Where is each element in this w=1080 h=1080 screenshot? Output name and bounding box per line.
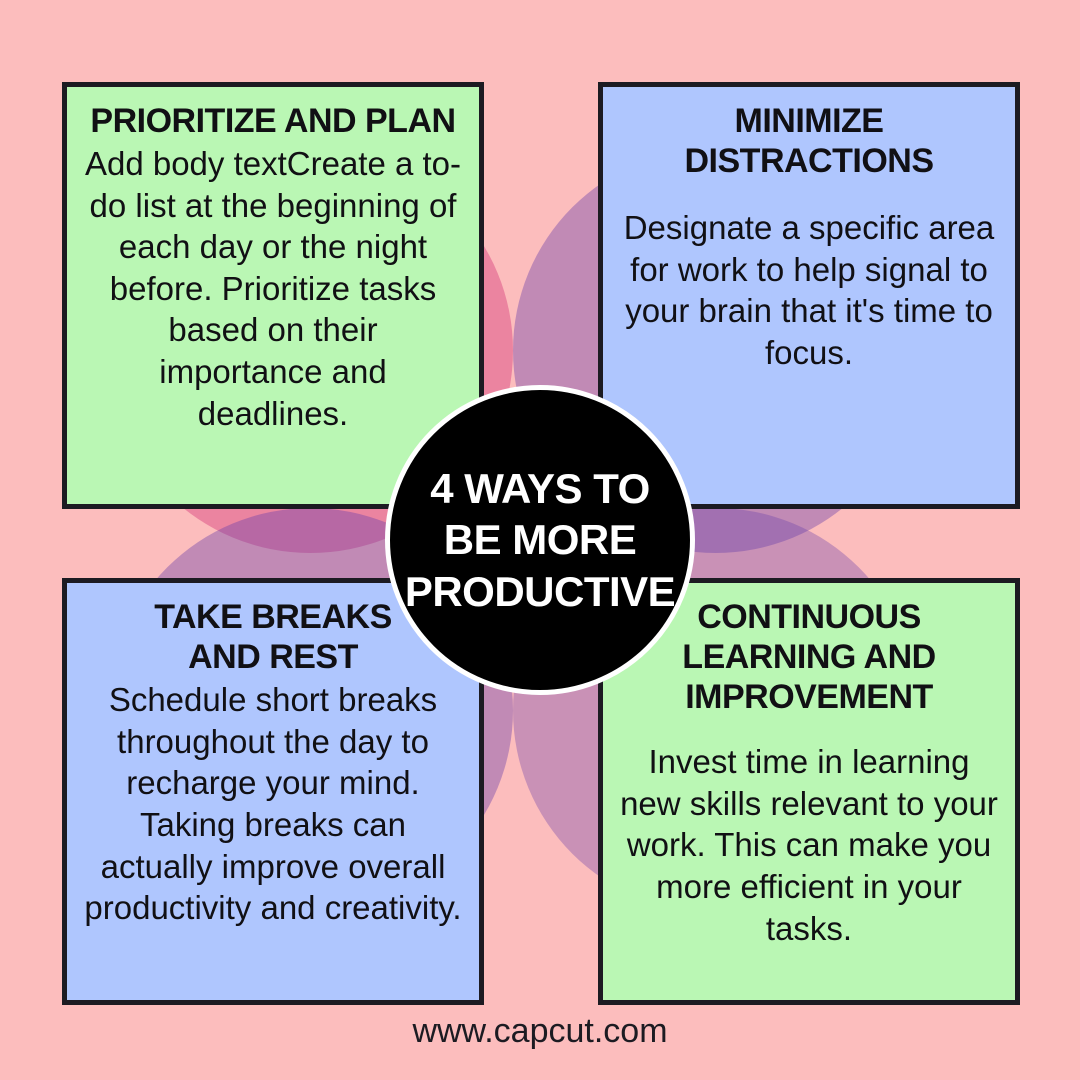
center-badge-title: 4 WAYS TO BE MORE PRODUCTIVE — [390, 463, 690, 617]
center-badge: 4 WAYS TO BE MORE PRODUCTIVE — [385, 385, 695, 695]
card-body: Add body textCreate a to-do list at the … — [83, 143, 463, 434]
footer-url: www.capcut.com — [0, 1012, 1080, 1051]
infographic-canvas: PRIORITIZE AND PLAN Add body textCreate … — [0, 0, 1080, 1080]
card-title: MINIMIZE DISTRACTIONS — [619, 101, 999, 181]
card-body: Invest time in learning new skills relev… — [619, 741, 999, 949]
card-title: PRIORITIZE AND PLAN — [83, 101, 463, 141]
card-body: Schedule short breaks throughout the day… — [83, 679, 463, 928]
card-continuous-learning-and-improvement: CONTINUOUS LEARNING AND IMPROVEMENT Inve… — [598, 578, 1020, 1005]
card-body: Designate a specific area for work to he… — [619, 207, 999, 373]
card-take-breaks-and-rest: TAKE BREAKS AND REST Schedule short brea… — [62, 578, 484, 1005]
